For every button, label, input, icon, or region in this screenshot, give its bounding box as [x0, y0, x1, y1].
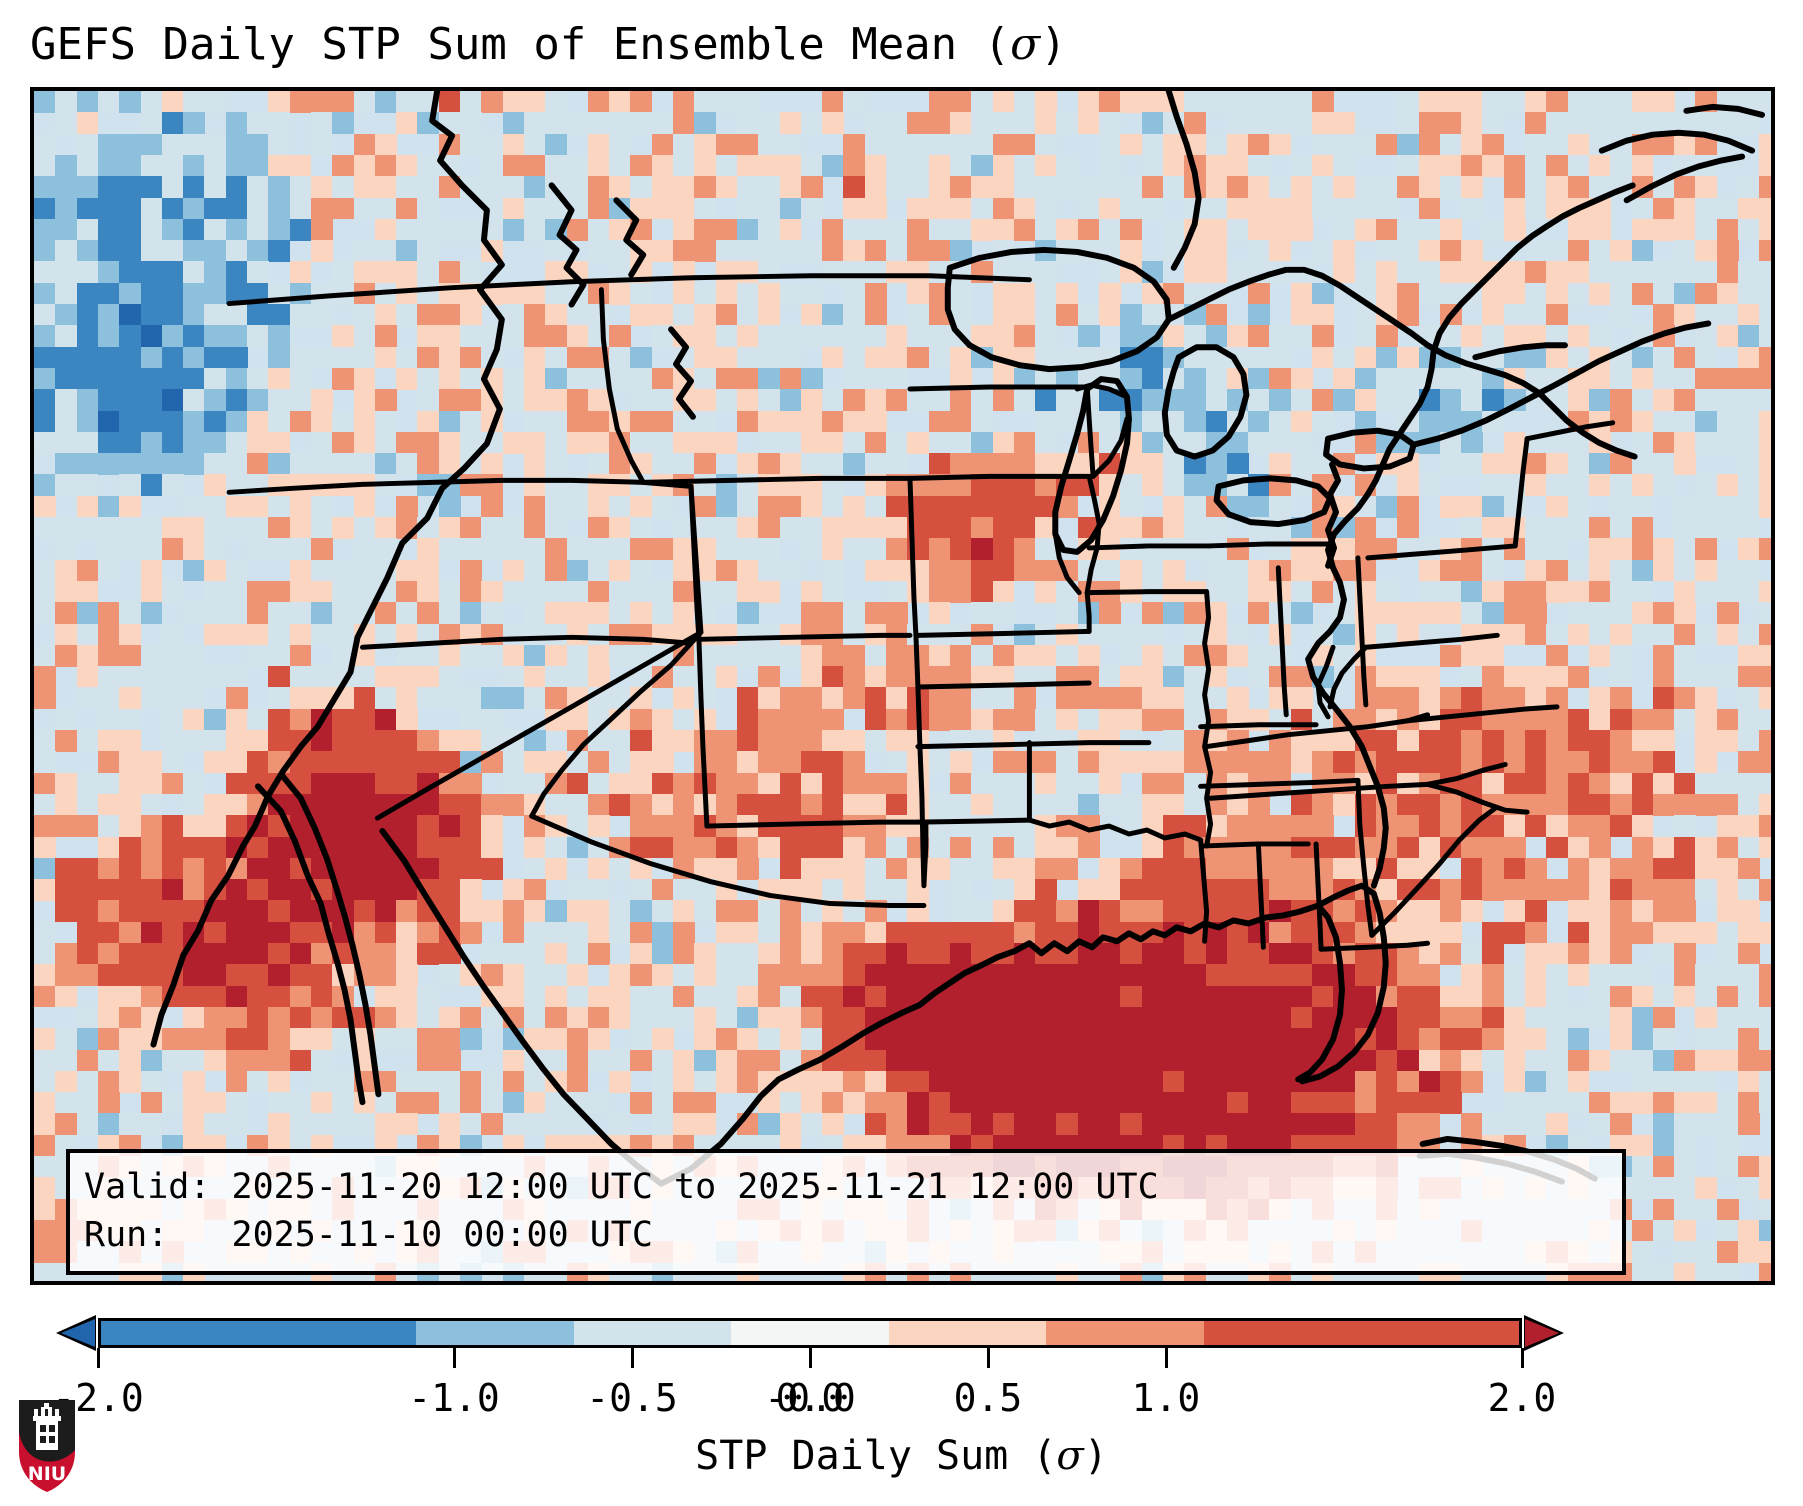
colorbar-tick-7 — [1521, 1348, 1524, 1368]
title-prefix: GEFS Daily STP Sum of Ensemble Mean ( — [30, 19, 1010, 70]
colorbar-extend-right — [1525, 1319, 1559, 1347]
colorbar-tick-0 — [97, 1348, 100, 1368]
colorbar-tick-5 — [987, 1348, 990, 1368]
valid-run-infobox: Valid: 2025-11-20 12:00 UTC to 2025-11-2… — [66, 1149, 1626, 1275]
colorbar-bands — [98, 1318, 1522, 1348]
niu-logo-shield: NIU — [16, 1398, 78, 1494]
colorbar[interactable] — [60, 1318, 1560, 1348]
colorbar-label-suffix: ) — [1084, 1433, 1108, 1479]
niu-logo-text: NIU — [28, 1463, 66, 1485]
page-title: GEFS Daily STP Sum of Ensemble Mean (σ) — [30, 14, 1775, 76]
colorbar-band-6 — [1204, 1321, 1519, 1345]
colorbar-tick-labels: -2.0-1.0-0.5-0.00.00.51.02.0 — [0, 1372, 1620, 1424]
geo-svg — [34, 91, 1771, 1281]
colorbar-ticks — [60, 1348, 1560, 1372]
colorbar-extend-left — [61, 1319, 95, 1347]
colorbar-tick-4 — [809, 1348, 812, 1368]
colorbar-tick-label-5: 0.5 — [954, 1372, 1023, 1424]
colorbar-tick-label-6: 1.0 — [1132, 1372, 1201, 1424]
colorbar-axis-label: STP Daily Sum (σ) — [0, 1428, 1803, 1484]
colorbar-tick-label-2: -0.5 — [586, 1372, 678, 1424]
figure-root: GEFS Daily STP Sum of Ensemble Mean (σ) — [0, 0, 1803, 1506]
niu-logo: NIU — [16, 1398, 78, 1494]
geography-layer — [34, 91, 1771, 1281]
colorbar-band-1 — [416, 1321, 574, 1345]
title-suffix: ) — [1040, 19, 1067, 70]
colorbar-band-4 — [889, 1321, 1047, 1345]
colorbar-tick-label-4: 0.0 — [776, 1372, 845, 1424]
colorbar-tick-label-1: -1.0 — [408, 1372, 500, 1424]
colorbar-tick-6 — [1165, 1348, 1168, 1368]
run-time-line: Run: 2025-11-10 00:00 UTC — [84, 1211, 1608, 1259]
map-canvas: Valid: 2025-11-20 12:00 UTC to 2025-11-2… — [34, 91, 1771, 1281]
colorbar-label-sigma: σ — [1056, 1433, 1083, 1479]
title-sigma-symbol: σ — [1010, 19, 1040, 70]
colorbar-band-0 — [101, 1321, 416, 1345]
colorbar-tick-2 — [631, 1348, 634, 1368]
colorbar-tick-label-7: 2.0 — [1488, 1372, 1557, 1424]
valid-time-line: Valid: 2025-11-20 12:00 UTC to 2025-11-2… — [84, 1163, 1608, 1211]
state-borders — [229, 276, 1613, 949]
colorbar-tick-1 — [453, 1348, 456, 1368]
map-axes[interactable]: Valid: 2025-11-20 12:00 UTC to 2025-11-2… — [30, 87, 1775, 1285]
colorbar-band-5 — [1046, 1321, 1204, 1345]
colorbar-band-2 — [574, 1321, 732, 1345]
coastlines — [153, 91, 1762, 1184]
colorbar-label-prefix: STP Daily Sum ( — [695, 1433, 1056, 1479]
colorbar-band-3 — [731, 1321, 889, 1345]
